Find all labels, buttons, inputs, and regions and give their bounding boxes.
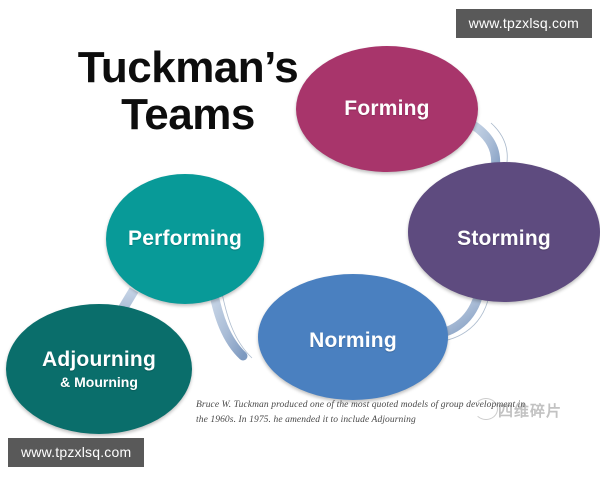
stage-node-adjourning[interactable]: Adjourning & Mourning (6, 304, 192, 434)
watermark-logo-icon (474, 398, 498, 420)
watermark-overlay-cn: 四维碎片 (498, 400, 562, 421)
stage-node-norming[interactable]: Norming (258, 274, 448, 400)
stage-label-adjourning: Adjourning (42, 348, 156, 372)
stage-node-performing[interactable]: Performing (106, 174, 264, 304)
stage-label-performing: Performing (128, 227, 242, 251)
stage-node-storming[interactable]: Storming (408, 162, 600, 302)
stage-sublabel-adjourning: & Mourning (60, 374, 138, 390)
stage-label-forming: Forming (344, 97, 429, 121)
watermark-bottom-left: www.tpzxlsq.com (8, 438, 144, 467)
watermark-top-right: www.tpzxlsq.com (456, 9, 592, 38)
tuckman-teams-diagram: Tuckman’s Teams (0, 0, 600, 480)
page-title: Tuckman’s Teams (58, 44, 318, 138)
stage-label-norming: Norming (309, 329, 397, 353)
stage-label-storming: Storming (457, 227, 551, 251)
stage-node-forming[interactable]: Forming (296, 46, 478, 172)
